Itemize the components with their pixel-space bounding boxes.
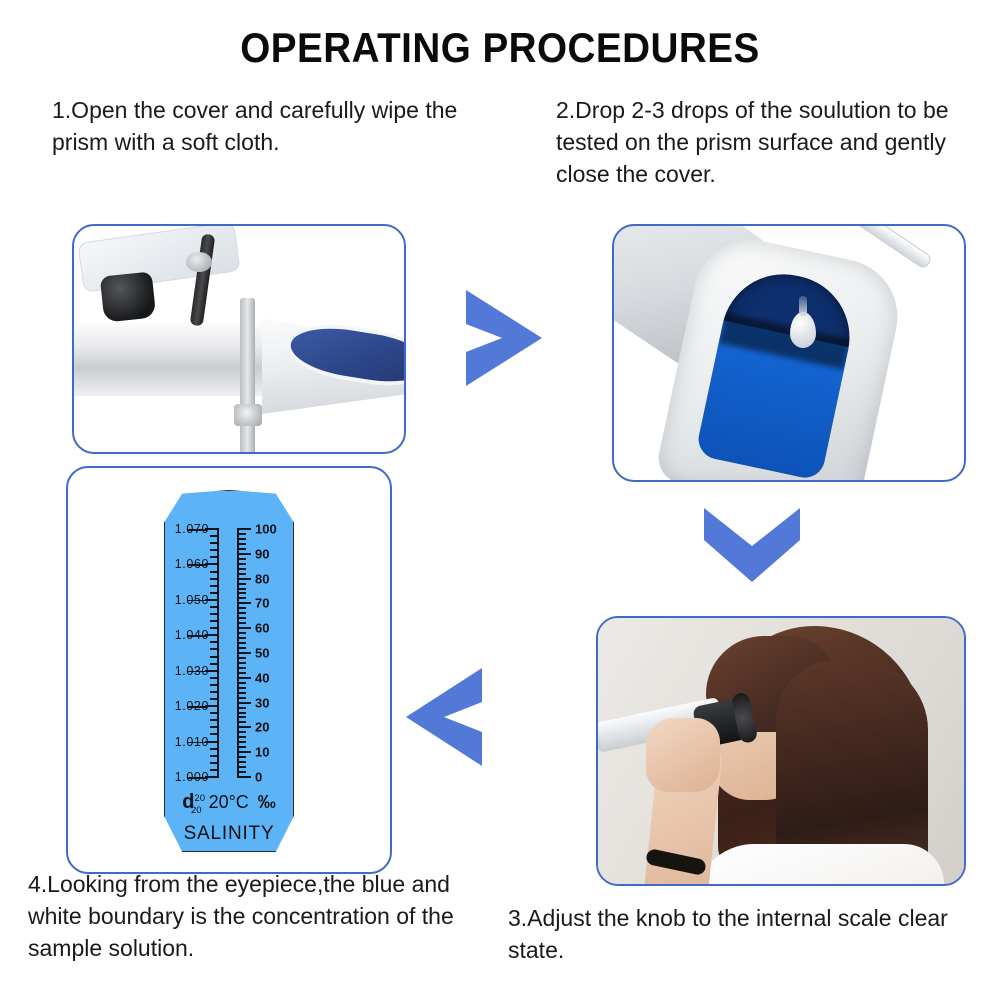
salinity-minor-tick	[237, 592, 246, 594]
salinity-major-tick	[237, 726, 251, 728]
salinity-minor-tick	[237, 766, 246, 768]
salinity-minor-tick	[237, 588, 246, 590]
person-photo	[598, 618, 964, 884]
permille-symbol: ‰	[258, 792, 276, 812]
salinity-major-tick	[237, 677, 251, 679]
salinity-minor-tick	[237, 642, 246, 644]
step-1-caption: 1.Open the cover and carefully wipe the …	[52, 94, 472, 158]
salinity-minor-tick	[237, 697, 246, 699]
sg-minor-tick	[210, 641, 219, 643]
salinity-minor-tick	[237, 607, 246, 609]
density-sup: 20	[194, 793, 205, 804]
salinity-minor-tick	[237, 741, 246, 743]
step-4-caption: 4.Looking from the eyepiece,the blue and…	[28, 868, 478, 964]
salinity-minor-tick	[237, 687, 246, 689]
white-shirt	[694, 844, 944, 886]
sg-minor-tick	[210, 663, 219, 665]
salinity-minor-tick	[237, 558, 246, 560]
step-3-caption: 3.Adjust the knob to the internal scale …	[508, 902, 978, 966]
sg-minor-tick	[210, 549, 219, 551]
salinity-minor-tick	[237, 756, 246, 758]
salinity-tick-label: 60	[255, 621, 269, 636]
salinity-minor-tick	[237, 533, 246, 535]
salinity-major-tick	[237, 627, 251, 629]
step-2-caption: 2.Drop 2-3 drops of the soulution to be …	[556, 94, 986, 190]
sg-minor-tick	[210, 677, 219, 679]
sg-tick-label: 1.030	[175, 664, 209, 678]
salinity-minor-tick	[237, 622, 246, 624]
arrow-step3-to-step4	[398, 662, 488, 772]
sg-minor-tick	[210, 726, 219, 728]
scale-name-label: SALINITY	[165, 823, 293, 845]
step-2-image-panel	[612, 224, 966, 482]
sg-minor-tick	[210, 542, 219, 544]
salinity-scale-view: 1.0701.0601.0501.0401.0301.0201.0101.000…	[68, 468, 390, 872]
salinity-minor-tick	[237, 617, 246, 619]
sg-minor-tick	[210, 656, 219, 658]
salinity-tick-label: 80	[255, 571, 269, 586]
density-sub: 20	[191, 805, 202, 816]
temperature-label: 20°C	[209, 792, 249, 812]
salinity-minor-tick	[237, 692, 246, 694]
sg-minor-tick	[210, 620, 219, 622]
salinity-minor-tick	[237, 716, 246, 718]
solution-droplet	[790, 312, 816, 348]
sg-minor-tick	[210, 648, 219, 650]
salinity-minor-tick	[237, 612, 246, 614]
salinity-tick-label: 100	[255, 522, 277, 537]
sg-minor-tick	[210, 556, 219, 558]
salinity-tick-label: 70	[255, 596, 269, 611]
salinity-major-tick	[237, 553, 251, 555]
hand	[646, 718, 720, 792]
salinity-tick-label: 40	[255, 670, 269, 685]
sg-tick-label: 1.050	[175, 593, 209, 607]
hinge-pin	[186, 252, 212, 272]
sg-minor-tick	[210, 762, 219, 764]
salinity-minor-tick	[237, 568, 246, 570]
operating-procedures-infographic: OPERATING PROCEDURES 1.Open the cover an…	[0, 0, 1000, 1000]
salinity-minor-tick	[237, 657, 246, 659]
salinity-minor-tick	[237, 538, 246, 540]
page-title: OPERATING PROCEDURES	[40, 24, 960, 72]
collar-clamp	[240, 298, 255, 454]
step-4-image-panel: 1.0701.0601.0501.0401.0301.0201.0101.000…	[66, 466, 392, 874]
sg-minor-tick	[210, 585, 219, 587]
step-1-image-panel	[72, 224, 406, 454]
sg-minor-tick	[210, 748, 219, 750]
salinity-minor-tick	[237, 736, 246, 738]
sg-minor-tick	[210, 719, 219, 721]
salinity-major-tick	[237, 528, 251, 530]
sg-minor-tick	[210, 627, 219, 629]
scale-units-row: d202020°C‰	[165, 791, 293, 814]
salinity-minor-tick	[237, 647, 246, 649]
salinity-minor-tick	[237, 672, 246, 674]
salinity-minor-tick	[237, 667, 246, 669]
sg-minor-tick	[210, 712, 219, 714]
salinity-minor-tick	[237, 597, 246, 599]
salinity-tick-label: 10	[255, 745, 269, 760]
sg-minor-tick	[210, 733, 219, 735]
sg-tick-label: 1.020	[175, 699, 209, 713]
salinity-minor-tick	[237, 771, 246, 773]
salinity-minor-tick	[237, 761, 246, 763]
sg-minor-tick	[210, 769, 219, 771]
salinity-minor-tick	[237, 637, 246, 639]
step-3-image-panel	[596, 616, 966, 886]
salinity-minor-tick	[237, 712, 246, 714]
salinity-major-tick	[237, 776, 251, 778]
sg-minor-tick	[210, 684, 219, 686]
sg-minor-tick	[210, 691, 219, 693]
sg-tick-label: 1.070	[175, 522, 209, 536]
salinity-tick-label: 20	[255, 720, 269, 735]
salinity-minor-tick	[237, 682, 246, 684]
salinity-minor-tick	[237, 548, 246, 550]
scale-field: 1.0701.0601.0501.0401.0301.0201.0101.000…	[164, 490, 294, 852]
salinity-major-tick	[237, 652, 251, 654]
arrow-step2-to-step3	[700, 502, 804, 588]
sg-minor-tick	[210, 571, 219, 573]
salinity-tick-label: 90	[255, 546, 269, 561]
salinity-minor-tick	[237, 583, 246, 585]
sg-minor-tick	[210, 606, 219, 608]
sg-tick-label: 1.000	[175, 770, 209, 784]
sg-minor-tick	[210, 578, 219, 580]
collar-screw	[234, 404, 262, 426]
calibration-knob	[100, 271, 157, 322]
salinity-minor-tick	[237, 632, 246, 634]
sg-tick-label: 1.040	[175, 628, 209, 642]
sg-tick-label: 1.010	[175, 735, 209, 749]
salinity-minor-tick	[237, 662, 246, 664]
salinity-minor-tick	[237, 707, 246, 709]
salinity-major-tick	[237, 578, 251, 580]
salinity-tick-label: 30	[255, 695, 269, 710]
sg-minor-tick	[210, 698, 219, 700]
sg-minor-tick	[210, 592, 219, 594]
sg-tick-label: 1.060	[175, 557, 209, 571]
salinity-major-tick	[237, 751, 251, 753]
salinity-tick-label: 0	[255, 770, 262, 785]
salinity-minor-tick	[237, 721, 246, 723]
sg-minor-tick	[210, 613, 219, 615]
salinity-minor-tick	[237, 731, 246, 733]
arrow-step1-to-step2	[460, 286, 546, 390]
salinity-major-tick	[237, 702, 251, 704]
salinity-minor-tick	[237, 563, 246, 565]
salinity-minor-tick	[237, 573, 246, 575]
salinity-minor-tick	[237, 543, 246, 545]
salinity-major-tick	[237, 602, 251, 604]
salinity-tick-label: 50	[255, 646, 269, 661]
sg-minor-tick	[210, 535, 219, 537]
salinity-minor-tick	[237, 746, 246, 748]
sg-minor-tick	[210, 755, 219, 757]
